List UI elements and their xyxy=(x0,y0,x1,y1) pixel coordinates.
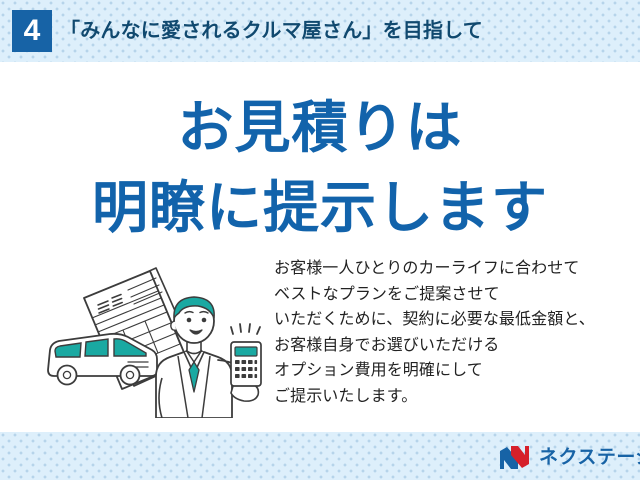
calculator-display xyxy=(235,347,257,356)
salesman-quotation-van-illustration xyxy=(28,258,276,418)
header-title: 「みんなに愛されるクルマ屋さん」を目指して xyxy=(60,10,483,52)
body-copy-line-3: いただくために、契約に必要な最低金額と、 xyxy=(274,307,634,333)
salesman-eye-right xyxy=(202,318,207,323)
headline-line-2: 明瞭に提示します xyxy=(0,168,640,248)
salesman-eye-left xyxy=(187,318,192,323)
calculator xyxy=(231,342,261,386)
body-copy-line-1: お客様一人ひとりのカーライフに合わせて xyxy=(274,256,634,282)
headline: お見積りは 明瞭に提示します xyxy=(0,88,640,247)
body-copy-line-4: お客様自身でお選びいただける xyxy=(274,333,634,359)
sparkle-icon xyxy=(231,324,260,334)
step-number-badge: 4 xyxy=(12,10,52,52)
body-copy: お客様一人ひとりのカーライフに合わせて ベストなプランをご提案させて いただくた… xyxy=(274,256,634,409)
nextage-n-mark-icon xyxy=(498,445,532,470)
promo-slide: 4 「みんなに愛されるクルマ屋さん」を目指して お見積りは 明瞭に提示します お… xyxy=(0,0,640,480)
brand-logo: ネクステージ xyxy=(498,442,640,472)
brand-name: ネクステージ xyxy=(539,445,640,470)
body-copy-line-5: オプション費用を明確にして xyxy=(274,358,634,384)
headline-line-1: お見積りは xyxy=(0,88,640,168)
body-copy-line-2: ベストなプランをご提案させて xyxy=(274,282,634,308)
body-copy-line-6: ご提示いたします。 xyxy=(274,384,634,410)
